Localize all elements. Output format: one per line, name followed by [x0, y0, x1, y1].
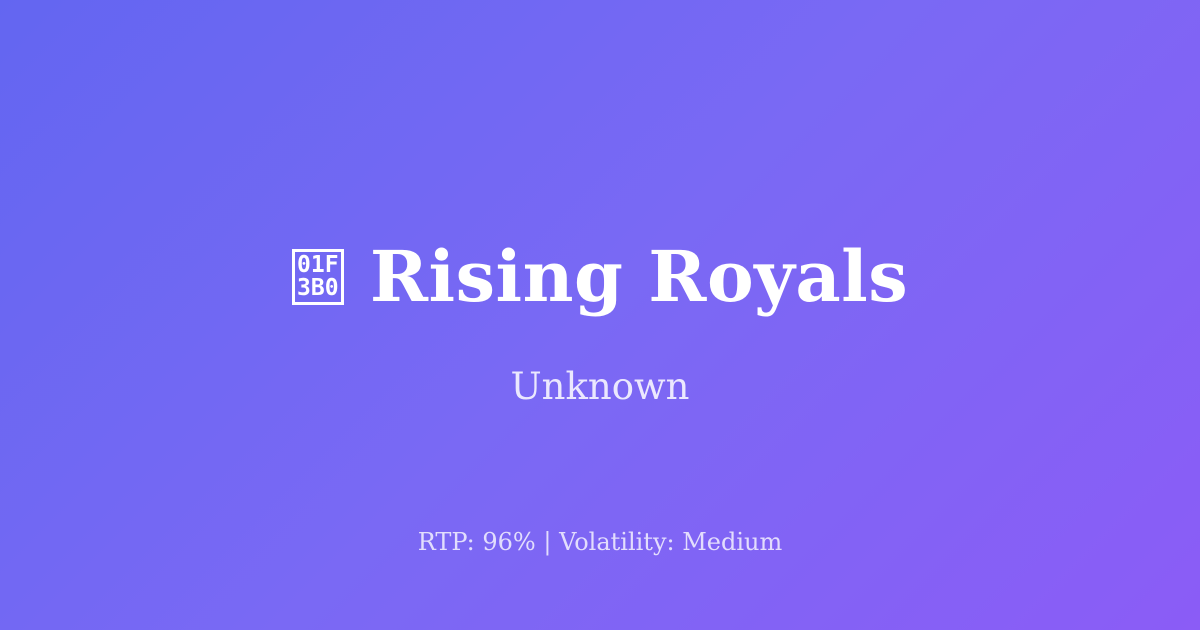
tofu-codepoint-bottom: 3B0 [297, 277, 339, 300]
title-row: 01F 3B0 Rising Royals [0, 232, 1200, 322]
provider-label: Unknown [0, 362, 1200, 412]
slot-machine-icon: 01F 3B0 [292, 249, 344, 305]
og-preview-card: 01F 3B0 Rising Royals Unknown RTP: 96% |… [0, 0, 1200, 630]
game-title: Rising Royals [370, 232, 908, 322]
game-stats: RTP: 96% | Volatility: Medium [0, 525, 1200, 559]
tofu-codepoint-top: 01F [297, 254, 339, 277]
